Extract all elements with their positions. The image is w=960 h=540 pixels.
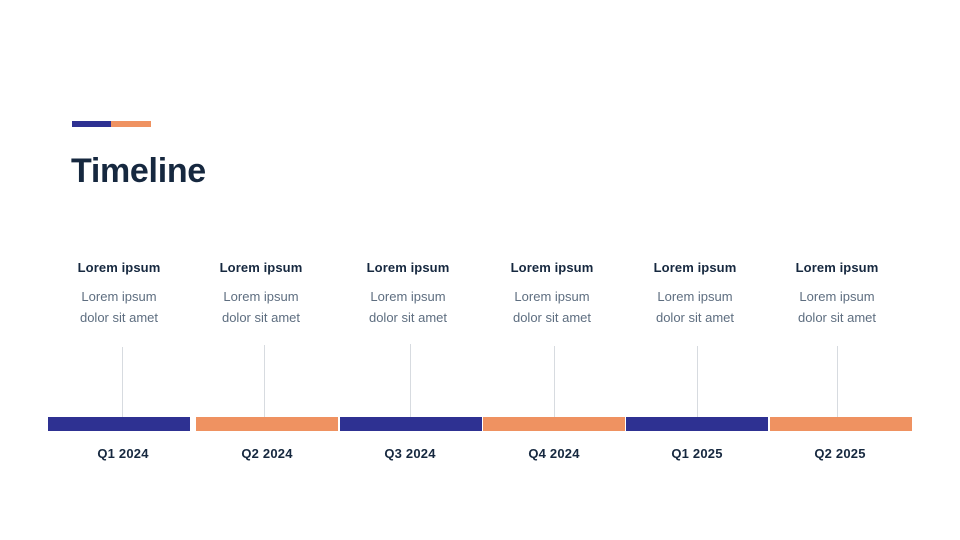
timeline-segment-q2-2024[interactable] [196, 417, 338, 431]
timeline-segment-q1-2024[interactable] [48, 417, 190, 431]
connector-line-4 [554, 346, 555, 425]
timeline-bar [48, 417, 912, 431]
milestone-description: Lorem ipsum dolor sit amet [766, 286, 908, 328]
milestone-column-1: Lorem ipsum Lorem ipsum dolor sit amet [48, 258, 190, 328]
milestone-column-5: Lorem ipsum Lorem ipsum dolor sit amet [624, 258, 766, 328]
milestone-description-line2: dolor sit amet [513, 310, 591, 325]
milestone-list: Lorem ipsum Lorem ipsum dolor sit amet L… [48, 258, 912, 348]
quarter-label-list: Q1 2024 Q2 2024 Q3 2024 Q4 2024 Q1 2025 … [48, 444, 912, 466]
milestone-description-line2: dolor sit amet [656, 310, 734, 325]
quarter-label-1: Q1 2024 [52, 444, 194, 464]
milestone-description-line1: Lorem ipsum [657, 289, 732, 304]
accent-bar-navy-segment [72, 121, 111, 127]
milestone-description: Lorem ipsum dolor sit amet [481, 286, 623, 328]
connector-line-1 [122, 347, 123, 425]
timeline-segment-q4-2024[interactable] [483, 417, 625, 431]
milestone-description-line2: dolor sit amet [798, 310, 876, 325]
quarter-label-2: Q2 2024 [196, 444, 338, 464]
milestone-heading: Lorem ipsum [624, 258, 766, 278]
milestone-description-line1: Lorem ipsum [514, 289, 589, 304]
milestone-description-line2: dolor sit amet [369, 310, 447, 325]
timeline-slide: Timeline Lorem ipsum Lorem ipsum dolor s… [0, 0, 960, 540]
milestone-description: Lorem ipsum dolor sit amet [190, 286, 332, 328]
milestone-column-6: Lorem ipsum Lorem ipsum dolor sit amet [766, 258, 908, 328]
milestone-description-line1: Lorem ipsum [370, 289, 445, 304]
connector-line-2 [264, 345, 265, 425]
timeline-segment-q3-2024[interactable] [340, 417, 482, 431]
milestone-column-2: Lorem ipsum Lorem ipsum dolor sit amet [190, 258, 332, 328]
quarter-label-6: Q2 2025 [769, 444, 911, 464]
milestone-heading: Lorem ipsum [481, 258, 623, 278]
timeline-segment-q2-2025[interactable] [770, 417, 912, 431]
quarter-label-5: Q1 2025 [626, 444, 768, 464]
milestone-description-line1: Lorem ipsum [799, 289, 874, 304]
connector-line-3 [410, 344, 411, 425]
milestone-column-4: Lorem ipsum Lorem ipsum dolor sit amet [481, 258, 623, 328]
milestone-heading: Lorem ipsum [337, 258, 479, 278]
connector-line-6 [837, 346, 838, 425]
milestone-column-3: Lorem ipsum Lorem ipsum dolor sit amet [337, 258, 479, 328]
page-title: Timeline [71, 149, 206, 193]
milestone-description-line2: dolor sit amet [222, 310, 300, 325]
milestone-description: Lorem ipsum dolor sit amet [48, 286, 190, 328]
milestone-description-line1: Lorem ipsum [81, 289, 156, 304]
milestone-heading: Lorem ipsum [190, 258, 332, 278]
quarter-label-3: Q3 2024 [339, 444, 481, 464]
timeline-segment-q1-2025[interactable] [626, 417, 768, 431]
milestone-description: Lorem ipsum dolor sit amet [337, 286, 479, 328]
milestone-heading: Lorem ipsum [48, 258, 190, 278]
milestone-description-line2: dolor sit amet [80, 310, 158, 325]
milestone-description: Lorem ipsum dolor sit amet [624, 286, 766, 328]
title-accent-bar [72, 121, 151, 127]
milestone-heading: Lorem ipsum [766, 258, 908, 278]
accent-bar-orange-segment [111, 121, 151, 127]
connector-line-5 [697, 346, 698, 425]
milestone-description-line1: Lorem ipsum [223, 289, 298, 304]
quarter-label-4: Q4 2024 [483, 444, 625, 464]
